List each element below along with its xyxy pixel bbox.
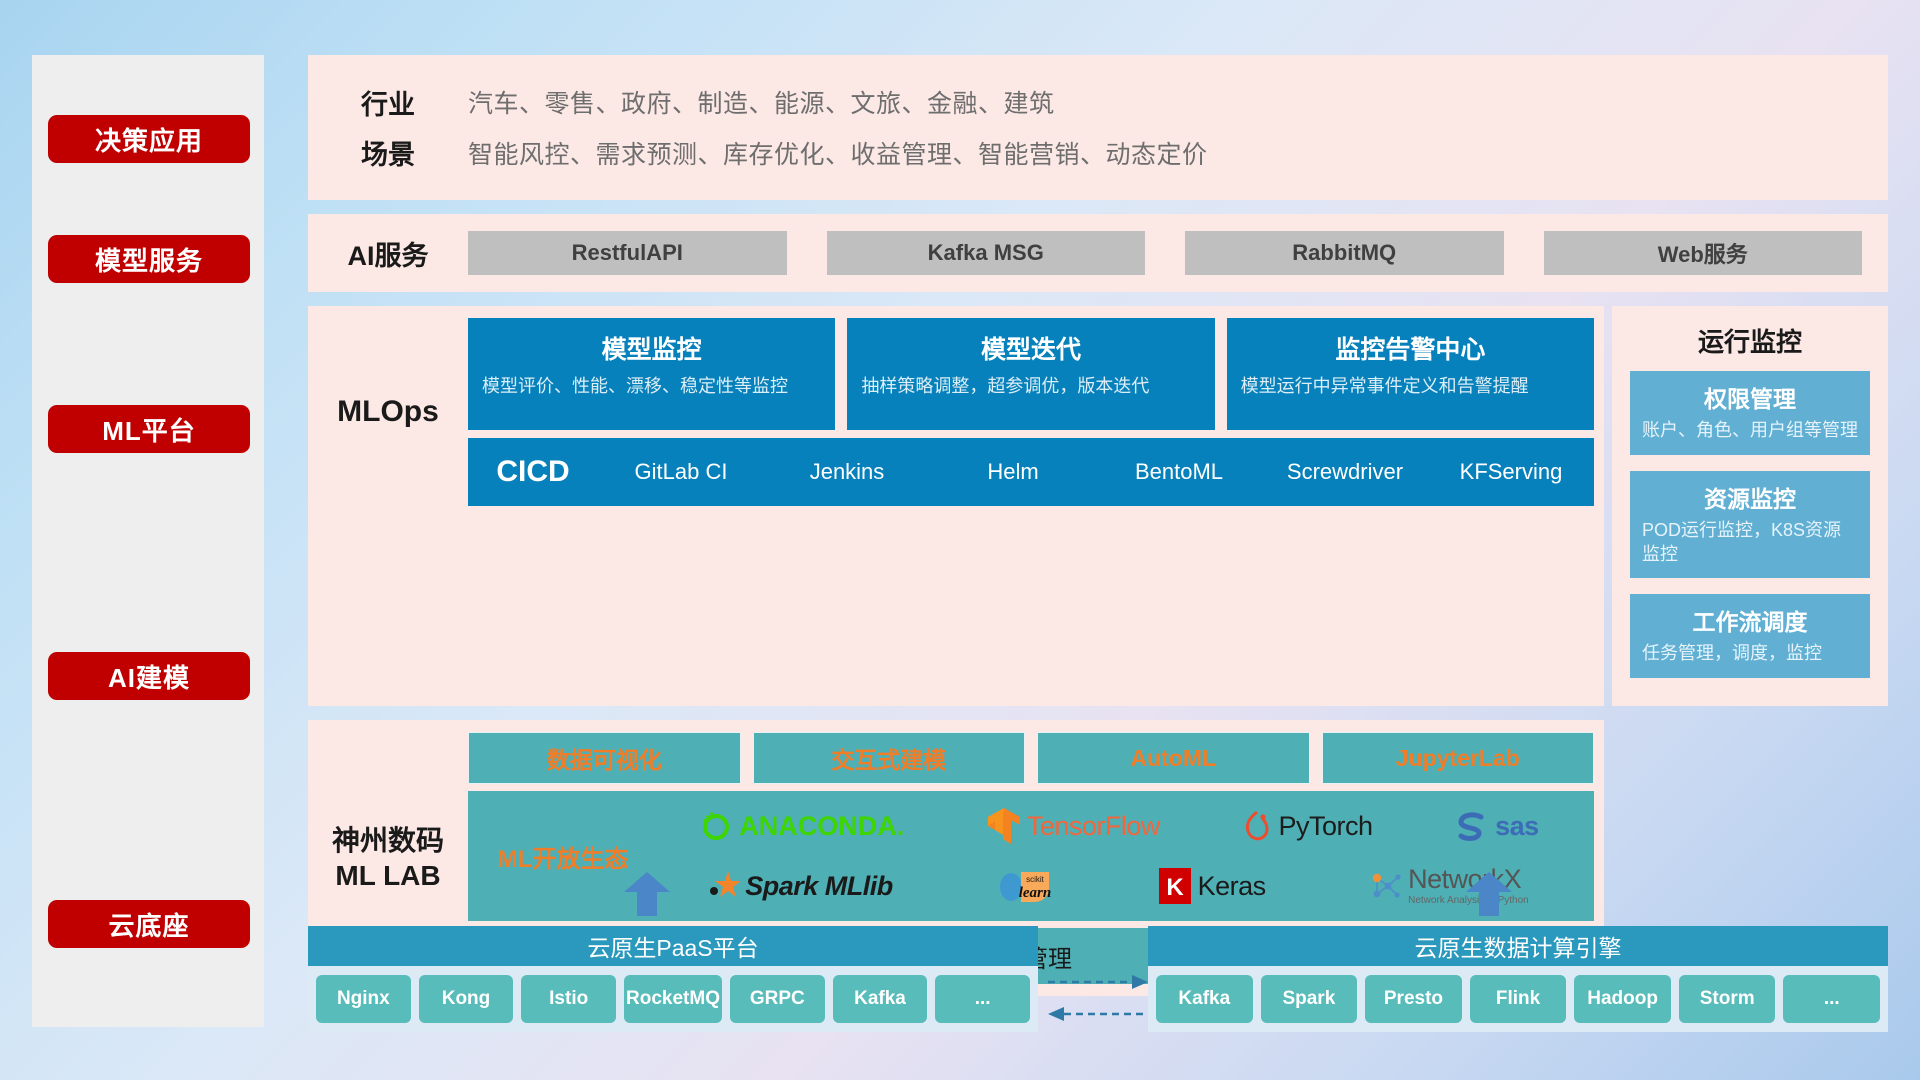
- card-desc: POD运行监控，K8S资源监控: [1642, 519, 1858, 567]
- anaconda-logo: ANACONDA.: [699, 809, 904, 843]
- left-rail: 决策应用 模型服务 ML平台 AI建模 云底座: [32, 55, 264, 1027]
- cicd-item-jenkins[interactable]: Jenkins: [764, 460, 930, 483]
- paas-chip-kong[interactable]: Kong: [419, 975, 514, 1023]
- paas-chip-kafka[interactable]: Kafka: [833, 975, 928, 1023]
- card-desc: 模型评价、性能、漂移、稳定性等监控: [482, 374, 821, 398]
- card-title: 监控告警中心: [1241, 330, 1580, 366]
- monitor-card-resources[interactable]: 资源监控 POD运行监控，K8S资源监控: [1630, 471, 1870, 579]
- paas-chip-istio[interactable]: Istio: [521, 975, 616, 1023]
- ml-lab-label-line2: ML LAB: [308, 858, 468, 893]
- engine-chip-presto[interactable]: Presto: [1365, 975, 1462, 1023]
- ai-service-band: AI服务 RestfulAPI Kafka MSG RabbitMQ Web服务: [308, 214, 1888, 292]
- main-content: 行业 汽车、零售、政府、制造、能源、文旅、金融、建筑 场景 智能风控、需求预测、…: [308, 55, 1888, 996]
- band-divider-2: [308, 292, 1888, 306]
- engine-chip-spark[interactable]: Spark: [1261, 975, 1358, 1023]
- mlops-label: MLOps: [308, 318, 468, 506]
- tensorflow-logo: TensorFlow: [987, 807, 1160, 845]
- rail-item-decision-apps[interactable]: 决策应用: [48, 115, 250, 163]
- industry-values: 汽车、零售、政府、制造、能源、文旅、金融、建筑: [468, 84, 1055, 120]
- paas-platform-header: 云原生PaaS平台: [308, 926, 1038, 966]
- paas-chip-grpc[interactable]: GRPC: [730, 975, 825, 1023]
- scenario-label: 场景: [308, 133, 468, 172]
- cicd-bar: CICD GitLab CI Jenkins Helm BentoML Scre…: [468, 438, 1594, 506]
- paas-chip-nginx[interactable]: Nginx: [316, 975, 411, 1023]
- engine-chip-kafka[interactable]: Kafka: [1156, 975, 1253, 1023]
- card-desc: 账户、角色、用户组等管理: [1642, 419, 1858, 443]
- cicd-item-kfserving[interactable]: KFServing: [1428, 460, 1594, 483]
- rail-item-model-service[interactable]: 模型服务: [48, 235, 250, 283]
- ai-service-label: AI服务: [308, 234, 468, 273]
- monitor-card-workflow[interactable]: 工作流调度 任务管理，调度，监控: [1630, 594, 1870, 678]
- paas-platform-column: 云原生PaaS平台 Nginx Kong Istio RocketMQ GRPC…: [308, 926, 1038, 1032]
- cicd-label: CICD: [468, 455, 598, 489]
- cicd-item-list: GitLab CI Jenkins Helm BentoML Screwdriv…: [598, 460, 1594, 483]
- cicd-item-screwdriver[interactable]: Screwdriver: [1262, 460, 1428, 483]
- paas-chip-rocketmq[interactable]: RocketMQ: [624, 975, 722, 1023]
- monitor-card-permissions[interactable]: 权限管理 账户、角色、用户组等管理: [1630, 371, 1870, 455]
- card-desc: 任务管理，调度，监控: [1642, 642, 1858, 666]
- ml-lab-label: 神州数码 ML LAB: [308, 823, 468, 893]
- logo-row-1: ANACONDA. TensorFlow: [658, 797, 1580, 855]
- data-engine-header: 云原生数据计算引擎: [1148, 926, 1888, 966]
- service-chip-kafka-msg[interactable]: Kafka MSG: [827, 231, 1146, 275]
- cicd-item-bentoml[interactable]: BentoML: [1096, 460, 1262, 483]
- anaconda-icon: [699, 809, 733, 843]
- rail-item-cloud-base[interactable]: 云底座: [48, 900, 250, 948]
- ml-lab-label-line1: 神州数码: [308, 823, 468, 858]
- ml-open-ecosystem-label: ML开放生态: [468, 839, 658, 874]
- sas-wordmark: sas: [1495, 811, 1539, 842]
- pytorch-icon: [1242, 809, 1272, 843]
- service-chip-web[interactable]: Web服务: [1544, 231, 1863, 275]
- rail-item-ai-modeling[interactable]: AI建模: [48, 652, 250, 700]
- arrow-up-data-engine: [1466, 872, 1512, 916]
- engine-chip-storm[interactable]: Storm: [1679, 975, 1776, 1023]
- mlops-card-model-monitoring[interactable]: 模型监控 模型评价、性能、漂移、稳定性等监控: [468, 318, 835, 430]
- cloud-base-zone: 云原生PaaS平台 Nginx Kong Istio RocketMQ GRPC…: [308, 890, 1888, 1045]
- ai-service-chip-strip: RestfulAPI Kafka MSG RabbitMQ Web服务: [468, 231, 1888, 275]
- cicd-item-helm[interactable]: Helm: [930, 460, 1096, 483]
- scenario-row: 场景 智能风控、需求预测、库存优化、收益管理、智能营销、动态定价: [308, 128, 1888, 179]
- runtime-monitor-title: 运行监控: [1630, 322, 1870, 359]
- engine-chip-hadoop[interactable]: Hadoop: [1574, 975, 1671, 1023]
- band-divider: [308, 200, 1888, 214]
- card-desc: 抽样策略调整，超参调优，版本迭代: [861, 374, 1200, 398]
- card-title: 模型监控: [482, 330, 821, 366]
- pytorch-logo: PyTorch: [1242, 809, 1372, 843]
- tool-chip-jupyterlab[interactable]: JupyterLab: [1322, 732, 1595, 784]
- card-title: 模型迭代: [861, 330, 1200, 366]
- sas-logo: sas: [1455, 811, 1539, 842]
- scenario-values: 智能风控、需求预测、库存优化、收益管理、智能营销、动态定价: [468, 135, 1208, 171]
- svg-text:scikit: scikit: [1026, 875, 1045, 884]
- mlops-card-list: 模型监控 模型评价、性能、漂移、稳定性等监控 模型迭代 抽样策略调整，超参调优，…: [468, 318, 1594, 430]
- ml-tool-row: 数据可视化 交互式建模 AutoML JupyterLab: [468, 732, 1594, 784]
- runtime-monitor-rail: 运行监控 权限管理 账户、角色、用户组等管理 资源监控 POD运行监控，K8S资…: [1612, 306, 1888, 706]
- card-desc: 模型运行中异常事件定义和告警提醒: [1241, 374, 1580, 398]
- tensorflow-wordmark: TensorFlow: [1027, 811, 1160, 842]
- anaconda-wordmark: ANACONDA.: [739, 811, 904, 842]
- card-title: 资源监控: [1642, 480, 1858, 514]
- engine-chip-flink[interactable]: Flink: [1470, 975, 1567, 1023]
- data-engine-chip-list: Kafka Spark Presto Flink Hadoop Storm ..…: [1148, 966, 1888, 1032]
- decision-apps-band: 行业 汽车、零售、政府、制造、能源、文旅、金融、建筑 场景 智能风控、需求预测、…: [308, 55, 1888, 200]
- paas-chip-more[interactable]: ...: [935, 975, 1030, 1023]
- card-title: 工作流调度: [1642, 603, 1858, 637]
- industry-label: 行业: [308, 83, 468, 122]
- arrow-up-paas: [624, 872, 670, 916]
- sas-icon: [1455, 811, 1489, 841]
- rail-item-ml-platform[interactable]: ML平台: [48, 405, 250, 453]
- bidirectional-link-arrows: [1048, 968, 1148, 1028]
- cicd-item-gitlab-ci[interactable]: GitLab CI: [598, 460, 764, 483]
- tool-chip-data-visualization[interactable]: 数据可视化: [468, 732, 741, 784]
- service-chip-restfulapi[interactable]: RestfulAPI: [468, 231, 787, 275]
- mlops-card-model-iteration[interactable]: 模型迭代 抽样策略调整，超参调优，版本迭代: [847, 318, 1214, 430]
- mlops-band: MLOps 模型监控 模型评价、性能、漂移、稳定性等监控 模型迭代 抽样策略调整…: [308, 306, 1604, 706]
- tool-chip-automl[interactable]: AutoML: [1037, 732, 1310, 784]
- pytorch-wordmark: PyTorch: [1278, 811, 1372, 842]
- paas-chip-list: Nginx Kong Istio RocketMQ GRPC Kafka ...: [308, 966, 1038, 1032]
- mlops-card-alert-center[interactable]: 监控告警中心 模型运行中异常事件定义和告警提醒: [1227, 318, 1594, 430]
- card-title: 权限管理: [1642, 380, 1858, 414]
- tool-chip-interactive-modeling[interactable]: 交互式建模: [753, 732, 1026, 784]
- engine-chip-more[interactable]: ...: [1783, 975, 1880, 1023]
- data-engine-column: 云原生数据计算引擎 Kafka Spark Presto Flink Hadoo…: [1148, 926, 1888, 1032]
- ml-platform-row: MLOps 模型监控 模型评价、性能、漂移、稳定性等监控 模型迭代 抽样策略调整…: [308, 306, 1888, 706]
- service-chip-rabbitmq[interactable]: RabbitMQ: [1185, 231, 1504, 275]
- tensorflow-icon: [987, 807, 1021, 845]
- industry-row: 行业 汽车、零售、政府、制造、能源、文旅、金融、建筑: [308, 77, 1888, 128]
